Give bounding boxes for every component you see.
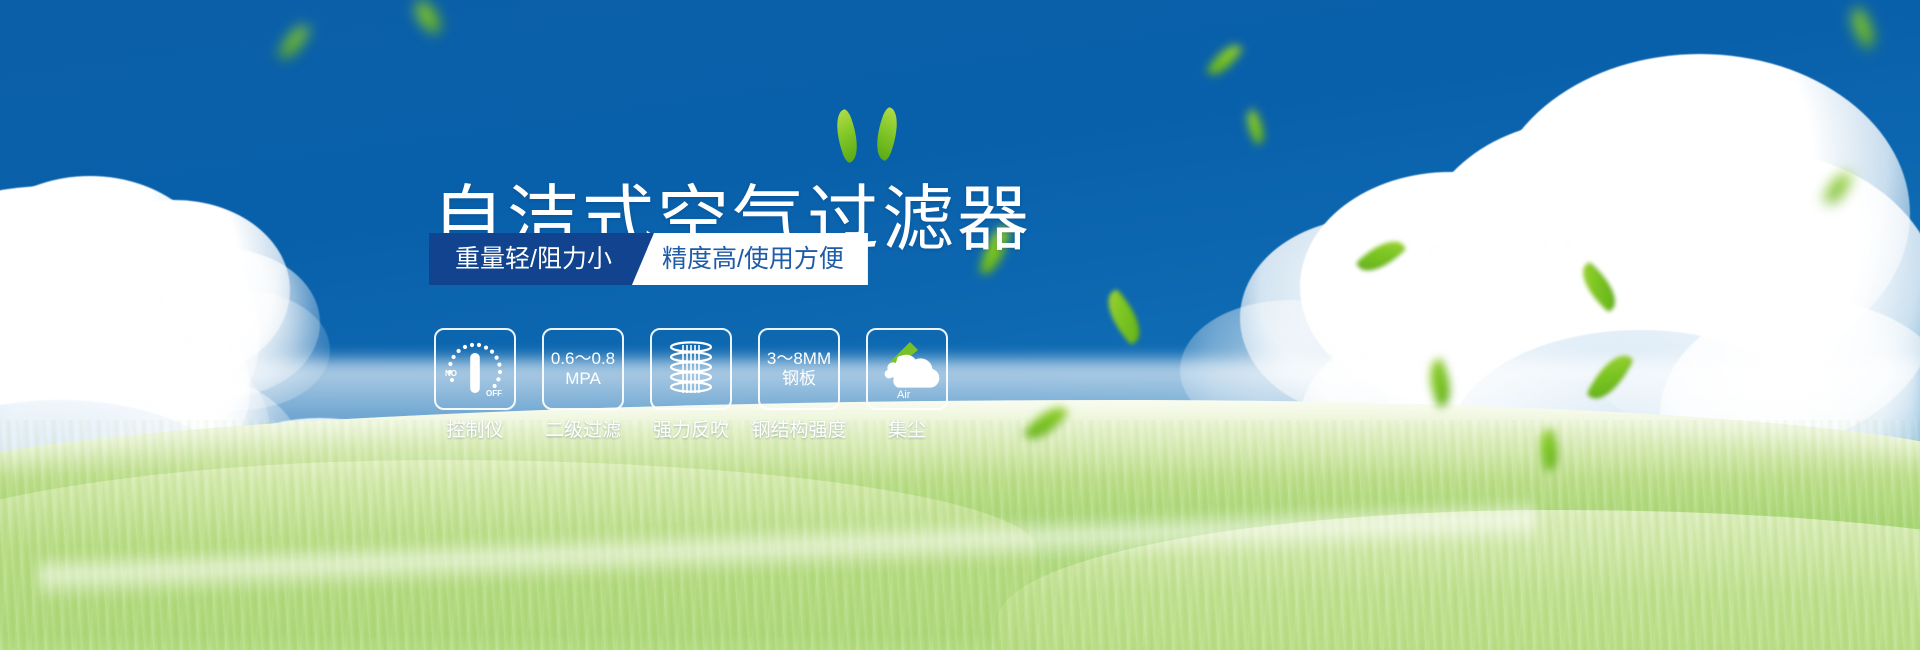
title-leaf-left [829, 108, 866, 164]
feature-box-dust: Air [866, 328, 948, 410]
tag-secondary-label: 精度高/使用方便 [662, 247, 844, 272]
air-cloud-icon: Air [874, 338, 940, 400]
feature-item-pressure: 0.6～0.8 MPA 二级过滤 [542, 328, 624, 440]
tag-primary: 重量轻/阻力小 [429, 233, 654, 285]
feature-item-blowback: 强力反吹 [650, 328, 732, 440]
feature-box-steel: 3～8MM 钢板 [758, 328, 840, 410]
feature-box-blowback [650, 328, 732, 410]
feature-label-steel: 钢结构强度 [752, 421, 847, 440]
feature-label-pressure: 二级过滤 [545, 421, 621, 440]
feature-label-blowback: 强力反吹 [653, 421, 729, 440]
title-leaf-pair [833, 104, 913, 162]
title-leaf-right [869, 106, 906, 162]
feature-label-control: 控制仪 [446, 421, 503, 440]
banner-content: 自洁式空气过滤器 重量轻/阻力小 精度高/使用方便 [0, 0, 1920, 650]
feature-item-dust: Air 集尘 [866, 328, 948, 440]
tag-secondary: 精度高/使用方便 [632, 233, 868, 285]
toggle-switch-icon: NO OFF [442, 338, 508, 400]
feature-item-control: NO OFF 控制仪 [434, 328, 516, 440]
product-banner: 自洁式空气过滤器 重量轻/阻力小 精度高/使用方便 [0, 0, 1920, 650]
feature-box-pressure: 0.6～0.8 MPA [542, 328, 624, 410]
feature-tag-group: 重量轻/阻力小 精度高/使用方便 [429, 233, 868, 285]
feature-label-dust: 集尘 [888, 421, 926, 440]
feature-text-steel: 3～8MM 钢板 [767, 349, 831, 388]
feature-icon-row: NO OFF 控制仪 0.6～0.8 MPA 二级过滤 [434, 328, 948, 440]
svg-text:OFF: OFF [486, 389, 502, 398]
svg-text:Air: Air [897, 389, 911, 400]
svg-text:NO: NO [445, 369, 457, 378]
tag-primary-label: 重量轻/阻力小 [455, 247, 612, 272]
feature-text-pressure: 0.6～0.8 MPA [551, 349, 615, 388]
feature-item-steel: 3～8MM 钢板 钢结构强度 [758, 328, 840, 440]
filter-cartridge-icon [663, 339, 719, 399]
feature-box-control: NO OFF [434, 328, 516, 410]
